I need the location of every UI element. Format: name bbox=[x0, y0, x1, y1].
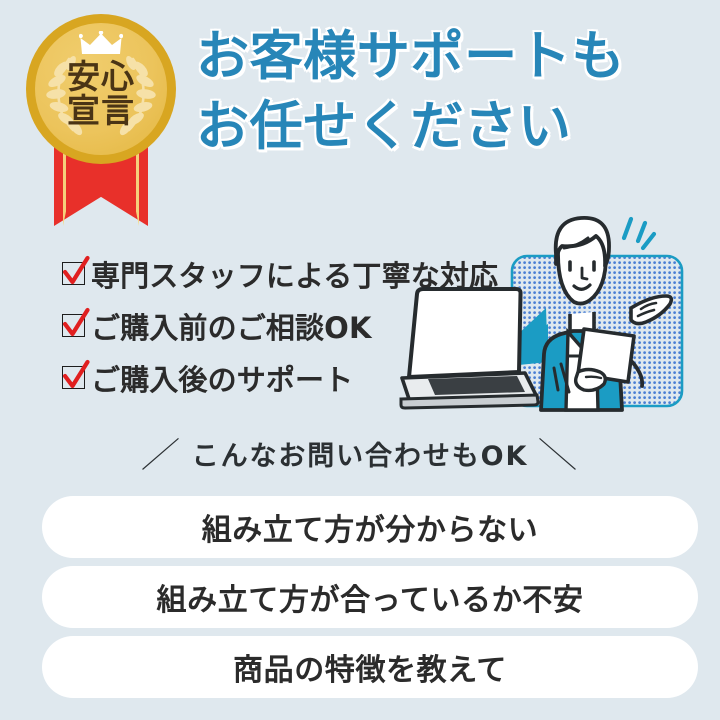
question-pill-label: 組み立て方が分からない bbox=[202, 505, 539, 549]
crown-icon bbox=[79, 31, 123, 57]
badge-text: 安心 宣言 bbox=[26, 60, 176, 127]
subhead: ／こんなお問い合わせもOK＼ bbox=[0, 430, 720, 474]
motion-lines-icon bbox=[624, 219, 654, 248]
anshin-sengen-badge: 安心 宣言 bbox=[26, 14, 176, 226]
checkbox-checked-icon bbox=[62, 366, 87, 391]
headline: お客様サポートも お任せください bbox=[196, 22, 706, 162]
badge-text-line1: 安心 bbox=[26, 60, 176, 94]
badge-text-line2: 宣言 bbox=[26, 94, 176, 128]
slash-left-icon: ／ bbox=[139, 427, 185, 478]
promo-banner: 安心 宣言 お客様サポートも お任せください 専門スタッフによる丁寧な対応 bbox=[0, 0, 720, 720]
question-pill[interactable]: 組み立て方が分からない bbox=[42, 496, 698, 558]
question-pill-label: 組み立て方が合っているか不安 bbox=[157, 575, 584, 619]
slash-right-icon: ＼ bbox=[535, 427, 581, 478]
checklist-item-label: ご購入後のサポート bbox=[91, 357, 353, 399]
checklist-item-label: ご購入前のご相談OK bbox=[91, 305, 372, 347]
headline-line1: お客様サポートも bbox=[196, 26, 625, 87]
medal-icon: 安心 宣言 bbox=[26, 14, 176, 164]
checkbox-checked-icon bbox=[62, 314, 87, 339]
question-pill-label: 商品の特徴を教えて bbox=[233, 645, 507, 689]
laptop-icon bbox=[401, 289, 538, 408]
checkbox-checked-icon bbox=[62, 262, 87, 287]
subhead-text: こんなお問い合わせもOK bbox=[192, 441, 529, 472]
question-pill[interactable]: 商品の特徴を教えて bbox=[42, 636, 698, 698]
support-staff-illustration bbox=[398, 196, 720, 428]
headline-line2: お任せください bbox=[196, 92, 706, 162]
question-pill[interactable]: 組み立て方が合っているか不安 bbox=[42, 566, 698, 628]
